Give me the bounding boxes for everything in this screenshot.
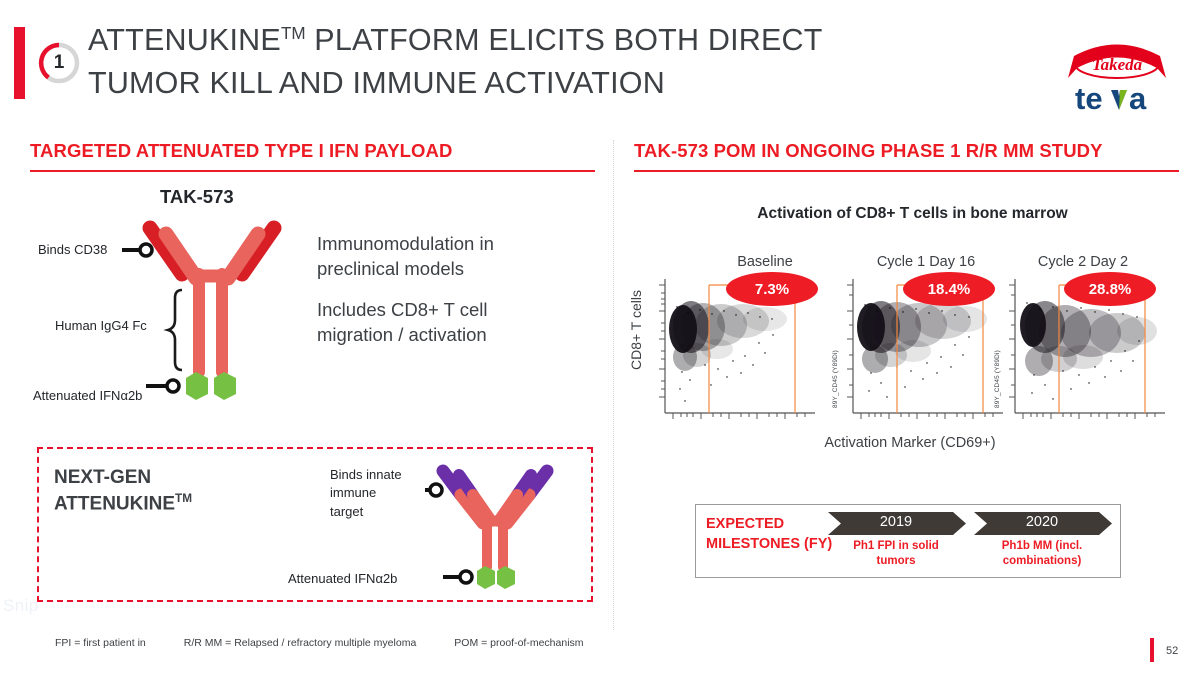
callout-nextgen-attenuated-ifn: Attenuated IFNα2b xyxy=(288,570,397,588)
callout-binds-cd38: Binds CD38 xyxy=(38,242,107,257)
milestone-text-2020: Ph1b MM (incl. combinations) xyxy=(977,539,1107,569)
flow-chart-title: Activation of CD8+ T cells in bone marro… xyxy=(640,205,1185,223)
gate-percent-baseline: 7.3% xyxy=(726,272,818,306)
ifn-payload-right xyxy=(214,372,236,400)
callout-attenuated-ifn: Attenuated IFNα2b xyxy=(33,388,142,403)
bullet-immunomodulation: Immunomodulation in preclinical models xyxy=(317,232,557,281)
right-section-rule xyxy=(634,170,1179,172)
tak573-antibody-diagram xyxy=(122,212,302,417)
panel-title-baseline: Baseline xyxy=(700,254,830,270)
panel3-y-axis-label: 89Y_CD45 (Y89Di) xyxy=(994,318,1001,408)
slide-number-badge: 1 xyxy=(36,40,82,86)
callout-binds-innate-l3: target xyxy=(330,503,420,521)
footnote-rrmm: R/R MM = Relapsed / refractory multiple … xyxy=(184,637,417,649)
nextgen-title-line2: ATTENUKINE xyxy=(54,493,175,514)
binds-cd38-leader xyxy=(122,244,152,256)
ifn-payload-ng-right xyxy=(497,566,515,589)
attenuated-ifn-leader xyxy=(146,380,179,392)
callout-binds-innate-l1: Binds innate xyxy=(330,466,420,484)
milestone-year-2019: 2019 xyxy=(836,514,956,530)
title-trademark: TM xyxy=(281,24,306,43)
molecule-name-label: TAK-573 xyxy=(160,186,234,208)
antibody-nextgen-icon xyxy=(425,463,565,598)
takeda-logo: Takeda xyxy=(1064,42,1170,82)
title-text-2: TUMOR KILL AND IMMUNE ACTIVATION xyxy=(88,66,665,100)
antibody-icon xyxy=(122,212,302,417)
page-number-bar xyxy=(1150,638,1154,662)
gate-percent-cycle2day2: 28.8% xyxy=(1064,272,1156,306)
column-divider xyxy=(613,140,614,630)
ifn-payload-ng-left xyxy=(477,566,495,589)
callout-human-igg4-fc: Human IgG4 Fc xyxy=(55,318,147,333)
right-section-header: TAK-573 POM IN ONGOING PHASE 1 R/R MM ST… xyxy=(634,140,1103,162)
milestone-text-2019-l2: tumors xyxy=(831,554,961,569)
svg-text:te: te xyxy=(1075,82,1103,116)
milestone-year-2020: 2020 xyxy=(982,514,1102,530)
flow-x-axis-label: Activation Marker (CD69+) xyxy=(690,435,1130,451)
left-bullets: Immunomodulation in preclinical models I… xyxy=(317,232,557,364)
left-section-header: TARGETED ATTENUATED TYPE I IFN PAYLOAD xyxy=(30,140,452,162)
ifn-payload-left xyxy=(186,372,208,400)
callout-binds-innate-l2: immune xyxy=(330,484,420,502)
footnote-fpi: FPI = first patient in xyxy=(55,637,146,649)
left-section-rule xyxy=(30,170,595,172)
page-number: 52 xyxy=(1166,645,1178,657)
footnote-pom: POM = proof-of-mechanism xyxy=(454,637,583,649)
header-accent-bar xyxy=(14,27,25,99)
nextgen-title-line1: NEXT-GEN xyxy=(54,467,151,488)
nextgen-trademark: TM xyxy=(175,492,192,505)
footnotes: FPI = first patient inR/R MM = Relapsed … xyxy=(55,637,584,649)
takeda-logo-icon: Takeda xyxy=(1064,42,1170,82)
bullet-cd8-migration: Includes CD8+ T cell migration / activat… xyxy=(317,298,557,347)
title-text-1b: PLATFORM ELICITS BOTH DIRECT xyxy=(306,23,823,57)
attenuated-ifn-ng-leader xyxy=(443,571,472,583)
title-text-1: ATTENUKINE xyxy=(88,23,281,57)
binds-innate-leader xyxy=(425,484,442,496)
milestone-text-2019-l1: Ph1 FPI in solid xyxy=(831,539,961,554)
milestone-text-2020-l1: Ph1b MM (incl. xyxy=(977,539,1107,554)
teva-logo: te a xyxy=(1075,82,1161,116)
snip-watermark: Snip xyxy=(3,596,39,616)
svg-text:Takeda: Takeda xyxy=(1092,55,1143,74)
teva-logo-icon: te a xyxy=(1075,82,1161,116)
panel-title-cycle1day16: Cycle 1 Day 16 xyxy=(851,254,1001,270)
flow-y-axis-label: CD8+ T cells xyxy=(628,290,644,370)
callout-binds-innate: Binds innate immune target xyxy=(330,466,420,521)
slide-canvas: 1 ATTENUKINETM PLATFORM ELICITS BOTH DIR… xyxy=(0,0,1204,677)
gate-percent-cycle1day16: 18.4% xyxy=(903,272,995,306)
svg-text:a: a xyxy=(1129,82,1147,116)
panel2-y-axis-label: 89Y_CD45 (Y89Di) xyxy=(832,318,839,408)
nextgen-antibody-diagram xyxy=(425,463,565,598)
badge-number: 1 xyxy=(36,40,82,86)
milestone-text-2019: Ph1 FPI in solid tumors xyxy=(831,539,961,569)
nextgen-title: NEXT-GEN ATTENUKINETM xyxy=(54,466,284,517)
panel-title-cycle2day2: Cycle 2 Day 2 xyxy=(1008,254,1158,270)
milestone-text-2020-l2: combinations) xyxy=(977,554,1107,569)
page-title: ATTENUKINETM PLATFORM ELICITS BOTH DIREC… xyxy=(88,19,988,104)
